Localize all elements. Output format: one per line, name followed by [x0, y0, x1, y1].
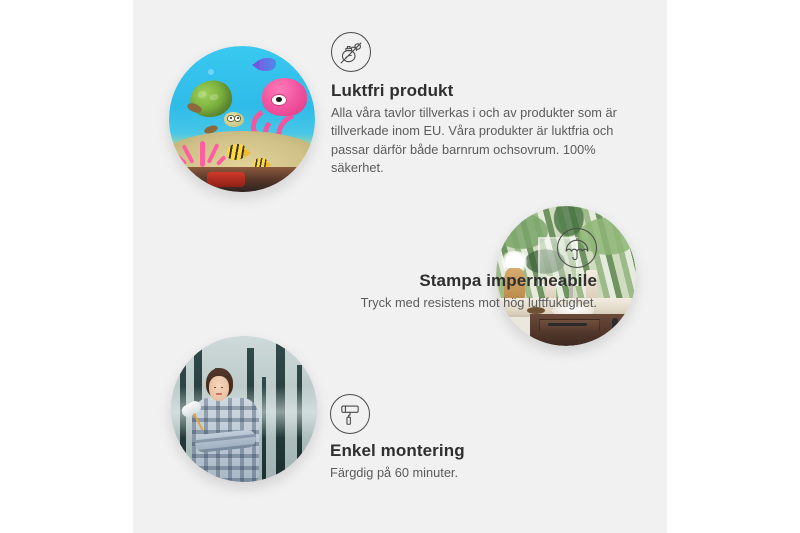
drawer-handle [548, 323, 587, 325]
octopus-eye [271, 94, 287, 106]
feature-waterproof-body: Tryck med resistens mot hög luftfuktighe… [219, 294, 597, 312]
room-foreground-strip [169, 167, 315, 192]
photo-kids-inner [169, 46, 315, 192]
feature-assembly-title: Enkel montering [330, 440, 630, 461]
umbrella-icon [557, 228, 597, 268]
feature-odorless-text: Luktfri produkt Alla våra tavlor tillver… [331, 80, 627, 177]
no-odor-perfume-bottle-icon [331, 32, 371, 72]
turtle-icon [187, 81, 245, 131]
woman-painter [189, 368, 268, 482]
cabinet-handle [612, 318, 618, 338]
feature-canvas: Luktfri produkt Alla våra tavlor tillver… [133, 0, 667, 533]
coral-icon [178, 129, 228, 167]
feature-waterproof-title: Stampa impermeabile [219, 270, 597, 291]
photo-kids-underwater [169, 46, 315, 192]
yellow-fish-icon [227, 144, 246, 160]
page-root: Luktfri produkt Alla våra tavlor tillver… [0, 0, 800, 533]
feature-waterproof-text: Stampa impermeabile Tryck med resistens … [219, 270, 597, 312]
vanity-cabinet [530, 314, 636, 346]
paint-roller-icon [330, 394, 370, 434]
roller-handle [193, 413, 205, 431]
underwater-illustration [169, 46, 315, 192]
photo-painter-inner [171, 336, 317, 482]
feature-odorless-title: Luktfri produkt [331, 80, 627, 101]
forest-illustration [171, 336, 317, 482]
feature-odorless-body: Alla våra tavlor tillverkas i och av pro… [331, 104, 627, 177]
turtle-eye [234, 115, 241, 121]
bubble-icon [208, 69, 214, 75]
turtle-head [224, 112, 244, 127]
feature-assembly-text: Enkel montering Färgdig på 60 minuter. [330, 440, 630, 482]
purple-fish-icon [257, 58, 276, 71]
octopus-body [262, 78, 308, 116]
photo-painter-forest [171, 336, 317, 482]
feature-assembly-body: Färgdig på 60 minuter. [330, 464, 630, 482]
